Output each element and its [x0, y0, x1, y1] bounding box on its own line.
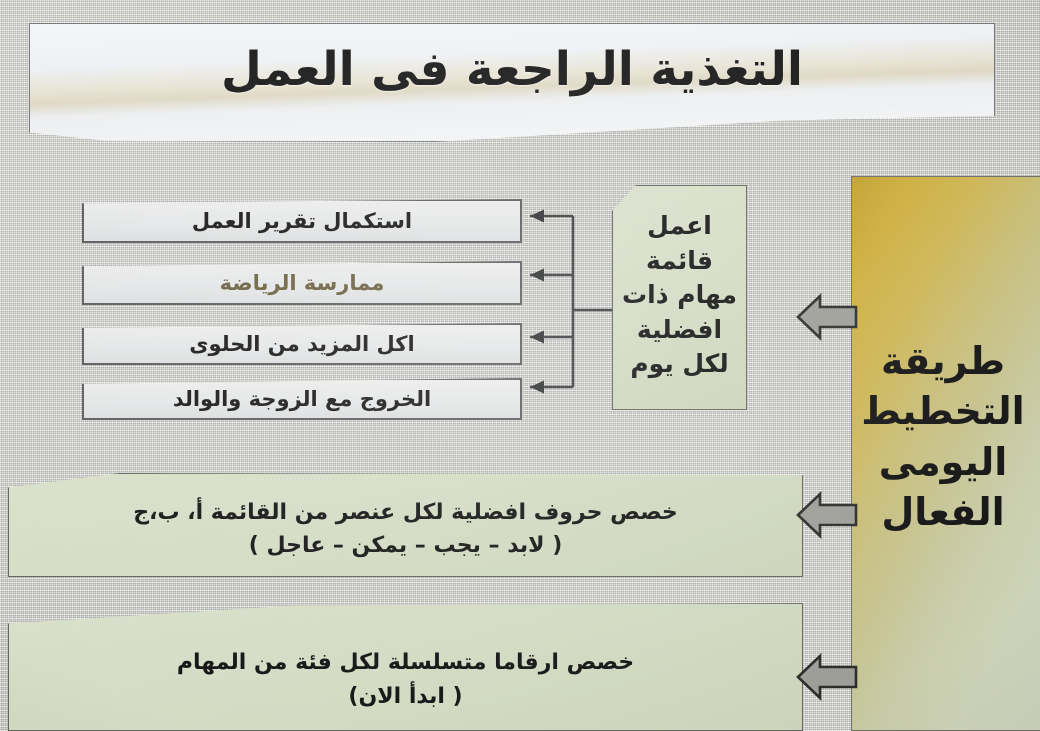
- task-box-label: ممارسة الرياضة: [220, 271, 385, 295]
- left-arrow-icon: [796, 648, 858, 706]
- left-arrow-icon: [796, 288, 858, 346]
- page-title: التغذية الراجعة فى العمل: [29, 29, 995, 109]
- green-box-line-2: ( لابد – يجب – يمكن – عاجل ): [249, 529, 563, 562]
- task-box-exercise: ممارسة الرياضة: [82, 261, 522, 305]
- presentation-slide: التغذية الراجعة فى العمل طريقة التخطيط ا…: [0, 0, 1040, 731]
- green-box-label: اعمل قائمة مهام ذات افضلية لكل يوم: [612, 209, 747, 382]
- left-arrow-icon: [796, 486, 858, 544]
- task-box-work-report: استكمال تقرير العمل: [82, 199, 522, 243]
- green-box-line-1: خصص حروف افضلية لكل عنصر من القائمة أ، ب…: [133, 496, 677, 529]
- green-box-priority-task-list: اعمل قائمة مهام ذات افضلية لكل يوم: [612, 185, 747, 410]
- task-box-label: استكمال تقرير العمل: [192, 209, 412, 233]
- green-box-line-1: خصص ارقاما متسلسلة لكل فئة من المهام: [177, 646, 634, 680]
- green-box-sequential-numbers: خصص ارقاما متسلسلة لكل فئة من المهام ( ا…: [8, 603, 803, 731]
- sidebar-panel-label: طريقة التخطيط اليومى الفعال: [861, 336, 1030, 571]
- green-box-priority-letters: خصص حروف افضلية لكل عنصر من القائمة أ، ب…: [8, 473, 803, 577]
- task-box-label: الخروج مع الزوجة والوالد: [173, 387, 431, 411]
- task-box-family-outing: الخروج مع الزوجة والوالد: [82, 378, 522, 420]
- task-box-sweets: اكل المزيد من الحلوى: [82, 323, 522, 365]
- task-box-label: اكل المزيد من الحلوى: [189, 332, 414, 356]
- sidebar-panel-daily-planning: طريقة التخطيط اليومى الفعال: [851, 176, 1040, 731]
- green-box-line-2: ( ابدأ الان): [348, 680, 462, 714]
